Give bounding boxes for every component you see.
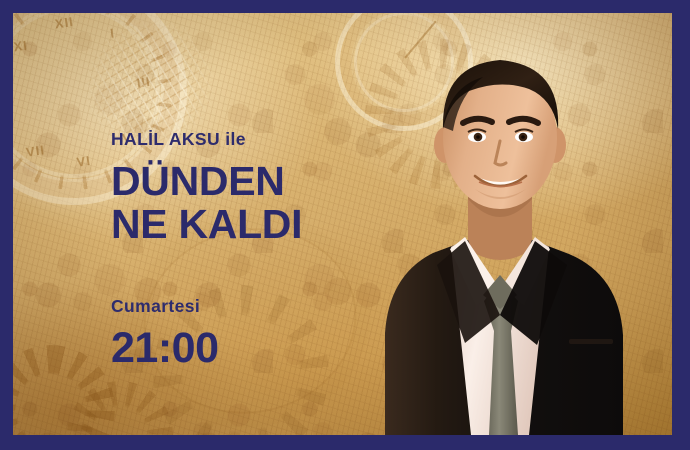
schedule-block: Cumartesi 21:00 — [111, 298, 218, 370]
programme-poster: XII I III V VI VII IX XI — [0, 0, 690, 450]
poster-canvas: XII I III V VI VII IX XI — [13, 13, 672, 435]
title-line-1: DÜNDEN — [111, 158, 285, 204]
page-title: DÜNDEN NE KALDI — [111, 162, 302, 245]
schedule-time: 21:00 — [111, 327, 218, 370]
schedule-day: Cumartesi — [111, 298, 218, 316]
presenter-name: HALİL AKSU ile — [111, 131, 302, 149]
title-line-2: NE KALDI — [111, 205, 302, 244]
headline-block: HALİL AKSU ile DÜNDEN NE KALDI — [111, 131, 302, 244]
